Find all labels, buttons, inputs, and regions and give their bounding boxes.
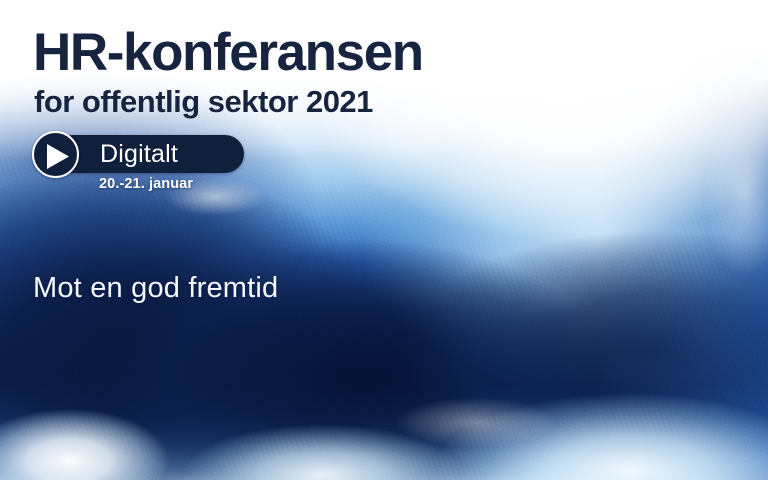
page-subtitle: for offentlig sektor 2021 xyxy=(34,86,373,117)
event-date: 20.-21. januar xyxy=(99,175,193,193)
conference-banner: HR-konferansen for offentlig sektor 2021… xyxy=(0,0,768,480)
play-button[interactable] xyxy=(32,131,79,178)
tagline: Mot en god fremtid xyxy=(33,271,278,305)
page-title: HR-konferansen xyxy=(33,26,423,79)
banner-content: HR-konferansen for offentlig sektor 2021… xyxy=(0,0,768,480)
digital-badge-label: Digitalt xyxy=(100,139,178,169)
play-icon xyxy=(47,144,69,169)
